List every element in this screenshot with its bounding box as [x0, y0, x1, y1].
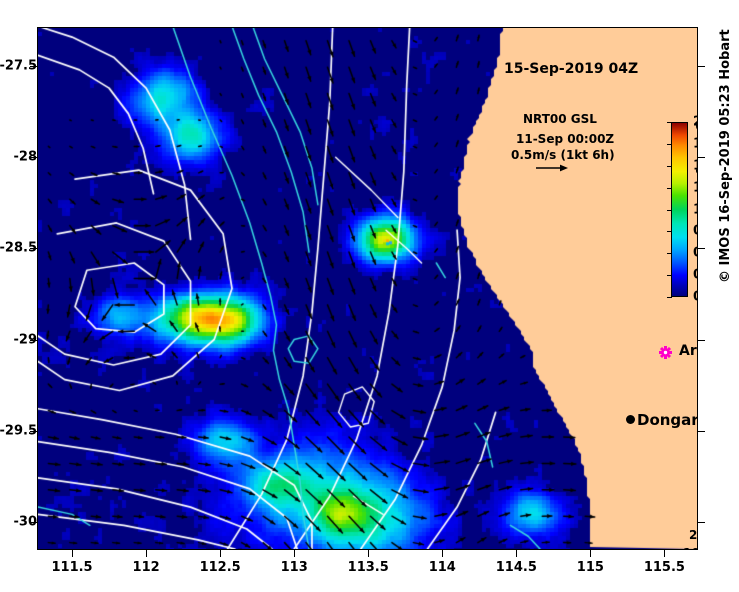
y-tick-label: -29	[14, 332, 38, 347]
y-axis: -27.5-28-28.5-29-29.5-30	[0, 0, 37, 592]
x-tick-label: 115.5	[644, 560, 685, 575]
colorbar-tick	[667, 122, 672, 123]
x-tick-label: 115	[577, 560, 604, 575]
colorbar-tick	[667, 210, 672, 211]
y-tick-label: -30	[14, 514, 38, 529]
colorbar-tick	[667, 253, 672, 254]
sst-age-map-figure: 15-Sep-2019 04Z NRT00 GSL 11-Sep 00:00Z …	[0, 0, 739, 592]
x-tick	[590, 550, 591, 557]
colorbar-tick	[667, 188, 672, 189]
map-plot-area[interactable]: 15-Sep-2019 04Z NRT00 GSL 11-Sep 00:00Z …	[37, 27, 698, 550]
x-tick	[294, 550, 295, 557]
right-tick	[698, 522, 705, 523]
x-tick	[72, 550, 73, 557]
right-tick	[698, 340, 705, 341]
colorbar[interactable]: 00.250.50.7511.251.51.752	[671, 122, 698, 297]
bathy-1000m-label: 1000m	[683, 546, 698, 550]
source-date-label: 11-Sep 00:00Z	[516, 132, 614, 146]
x-tick-label: 112	[133, 560, 160, 575]
right-tick	[698, 157, 705, 158]
colorbar-tick	[667, 166, 672, 167]
dongara-label: Dongara	[637, 411, 698, 429]
x-tick-label: 114.5	[496, 560, 537, 575]
x-tick-label: 113	[281, 560, 308, 575]
bathy-200m-label: 200m	[689, 528, 698, 542]
right-tick	[698, 431, 705, 432]
right-arrow-icon	[535, 162, 569, 174]
colorbar-tick	[667, 231, 672, 232]
right-tick	[698, 66, 705, 67]
x-tick	[146, 550, 147, 557]
x-tick	[664, 550, 665, 557]
imos-credit: © IMOS 16-Sep-2019 05:23 Hobart	[718, 29, 733, 283]
x-tick	[220, 550, 221, 557]
colorbar-tick	[667, 275, 672, 276]
velocity-scale-label: 0.5m/s (1kt 6h)	[511, 148, 615, 162]
x-tick-label: 113.5	[348, 560, 389, 575]
source-model-label: NRT00 GSL	[523, 112, 597, 126]
dongara-city-marker	[626, 415, 635, 424]
colorbar-title: Age (days) of filled SST (wrt latest)	[695, 112, 698, 370]
right-tick	[698, 248, 705, 249]
x-tick-label: 111.5	[51, 560, 92, 575]
x-tick	[442, 550, 443, 557]
y-tick-label: -28.5	[0, 241, 37, 256]
y-tick-label: -27.5	[0, 59, 37, 74]
x-tick-label: 114	[429, 560, 456, 575]
map-timestamp-title: 15-Sep-2019 04Z	[504, 61, 638, 77]
y-tick-label: -29.5	[0, 423, 37, 438]
y-tick-label: -28	[14, 150, 38, 165]
sst-age-heatmap-canvas[interactable]	[38, 28, 697, 549]
colorbar-tick	[667, 144, 672, 145]
colorbar-tick	[667, 297, 672, 298]
x-tick	[516, 550, 517, 557]
x-tick	[368, 550, 369, 557]
x-tick-label: 112.5	[200, 560, 241, 575]
colorbar-gradient[interactable]	[671, 122, 688, 297]
argo-float-marker[interactable]	[658, 345, 673, 360]
